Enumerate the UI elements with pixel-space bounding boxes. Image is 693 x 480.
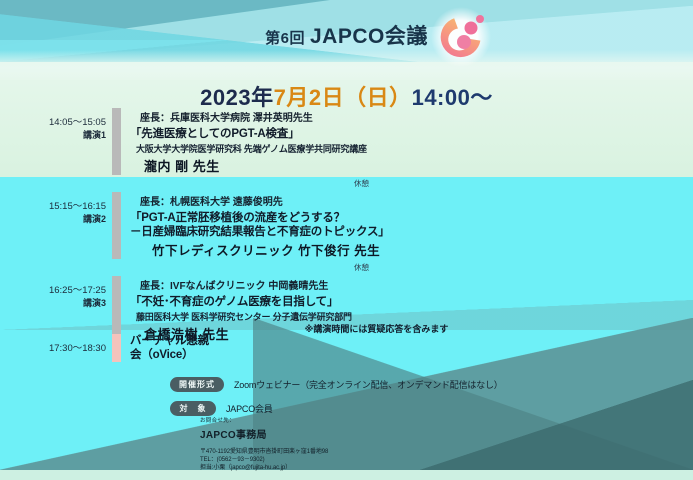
- conference-poster: 第6回JAPCO会議 2023年7月2日（日）14:: [0, 0, 693, 480]
- break-label: 休憩: [30, 175, 693, 192]
- social-divider-bar: [112, 334, 121, 362]
- japco-logo-icon: [430, 6, 492, 68]
- date-start-time: 14:00〜: [412, 85, 493, 110]
- session-time: 15:15〜16:15: [0, 200, 106, 213]
- session-label: 講演2: [0, 213, 106, 226]
- badge-row: 対 象 JAPCO会員: [170, 401, 503, 416]
- social-title-line2: 会（oVice）: [130, 348, 693, 362]
- date-month-day: 7月2日（日）: [274, 85, 412, 110]
- date-year: 2023年: [200, 85, 273, 110]
- program-list: 14:05〜15:05 講演1 座長：兵庫医科大学病院 澤井英明先生 「先進医療…: [0, 108, 693, 343]
- program-row: 15:15〜16:15 講演2 座長：札幌医科大学 遠藤俊明先 「PGT-A正常…: [0, 192, 693, 259]
- contact-org: JAPCO事務局: [200, 426, 328, 441]
- session-label: 講演1: [0, 129, 106, 142]
- session-title: 「不妊･不育症のゲノム医療を目指して」: [130, 295, 693, 309]
- session-time-block: 16:25〜17:25 講演3: [0, 276, 112, 310]
- contact-block: お問合せ先： JAPCO事務局 〒470-1192愛知県豊明市沓掛町田楽ヶ窪1番…: [200, 416, 328, 472]
- contact-tel: TEL：(0562－93－9302): [200, 456, 328, 464]
- page-title: 第6回JAPCO会議: [0, 20, 693, 50]
- badge-label-audience: 対 象: [170, 401, 216, 416]
- social-title-line1: バーチャル懇親: [130, 334, 693, 348]
- session-body: 座長：兵庫医科大学病院 澤井英明先生 「先進医療としてのPGT-A検査」 大阪大…: [130, 108, 693, 175]
- badge-text-format: Zoomウェビナー（完全オンライン配信、オンデマンド配信はなし）: [234, 378, 503, 391]
- session-title-line2: －日産婦臨床研究結果報告と不育症のトピックス」: [130, 225, 693, 239]
- contact-address: 〒470-1192愛知県豊明市沓掛町田楽ヶ窪1番地98: [200, 448, 328, 456]
- session-time: 16:25〜17:25: [0, 284, 106, 297]
- session-body: 座長：札幌医科大学 遠藤俊明先 「PGT-A正常胚移植後の流産をどうする？ －日…: [130, 192, 693, 259]
- title-main: JAPCO会議: [310, 25, 428, 48]
- session-time-block: 17:30〜18:30: [0, 334, 112, 355]
- session-speaker: 竹下レディスクリニック 竹下俊行 先生: [152, 240, 693, 259]
- badge-row: 開催形式 Zoomウェビナー（完全オンライン配信、オンデマンド配信はなし）: [170, 377, 503, 392]
- title-edition: 第6回: [265, 30, 305, 47]
- contact-person: 担当:小栗（japco@fujita-hu.ac.jp）: [200, 464, 328, 472]
- break-label: 休憩: [30, 259, 693, 276]
- session-chair: 座長：兵庫医科大学病院 澤井英明先生: [140, 109, 693, 124]
- session-time-block: 15:15〜16:15 講演2: [0, 192, 112, 226]
- program-row: 14:05〜15:05 講演1 座長：兵庫医科大学病院 澤井英明先生 「先進医療…: [0, 108, 693, 175]
- session-time: 14:05〜15:05: [0, 116, 106, 129]
- session-time: 17:30〜18:30: [0, 342, 106, 355]
- session-title: 「先進医療としてのPGT-A検査」: [130, 127, 693, 141]
- session-divider-bar: [112, 192, 121, 259]
- session-title: 「PGT-A正常胚移植後の流産をどうする？: [130, 211, 693, 225]
- session-divider-bar: [112, 108, 121, 175]
- social-row: 17:30〜18:30 バーチャル懇親 会（oVice）: [0, 334, 693, 362]
- session-affiliation: 大阪大学大学院医学研究科 先端ゲノム医療学共同研究講座: [136, 142, 693, 155]
- badge-text-audience: JAPCO会員: [226, 402, 273, 415]
- session-chair: 座長：札幌医科大学 遠藤俊明先: [140, 193, 693, 208]
- session-speaker: 瀧内 剛 先生: [144, 156, 693, 175]
- footer-band: [0, 470, 693, 480]
- social-body: バーチャル懇親 会（oVice）: [130, 334, 693, 362]
- program-row: 17:30〜18:30 バーチャル懇親 会（oVice）: [0, 334, 693, 362]
- contact-details: 〒470-1192愛知県豊明市沓掛町田楽ヶ窪1番地98 TEL：(0562－93…: [200, 448, 328, 472]
- header-fade: [0, 50, 693, 80]
- session-time-block: 14:05〜15:05 講演1: [0, 108, 112, 142]
- contact-label: お問合せ先：: [200, 416, 328, 424]
- session-label: 講演3: [0, 297, 106, 310]
- badge-label-format: 開催形式: [170, 377, 224, 392]
- session-chair: 座長：IVFなんばクリニック 中岡義晴先生: [140, 277, 693, 292]
